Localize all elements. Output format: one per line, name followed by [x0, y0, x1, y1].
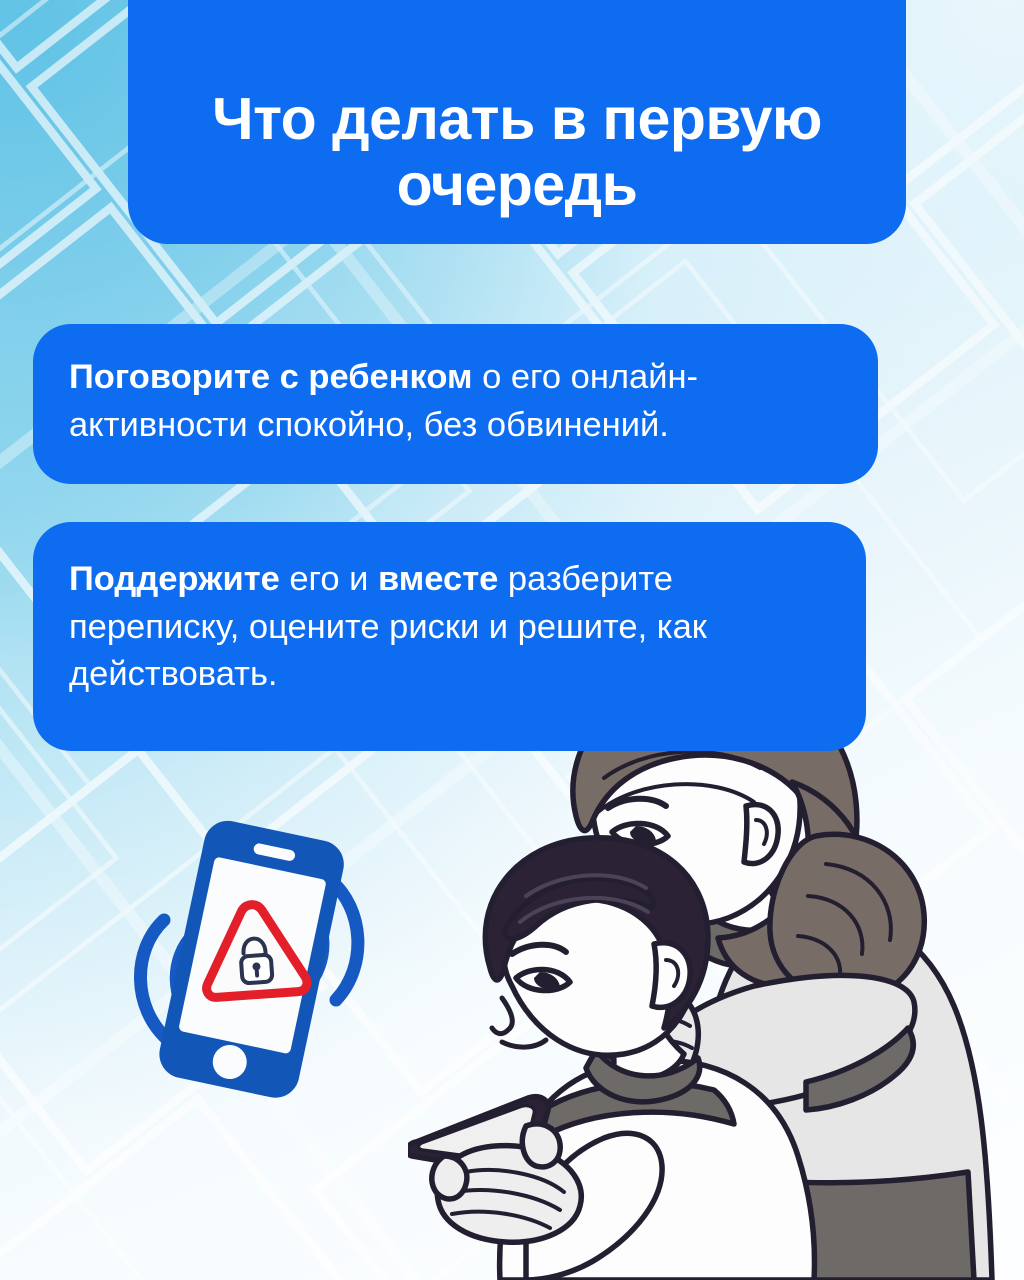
tip-card-2-bold-mid: вместе [378, 560, 498, 598]
tip-card-2-bold-lead: Поддержите [69, 560, 280, 598]
tip-card-1-bold-lead: Поговорите с ребенком [69, 358, 473, 396]
title-card: Что делать в первуюочередь [128, 0, 906, 244]
phone-alert-illustration [118, 812, 390, 1102]
title-line-1: Что делать в первую [212, 86, 822, 152]
tip-card-1-text: Поговорите с ребенком о его онлайн-актив… [69, 354, 842, 449]
page-title: Что делать в первуюочередь [212, 86, 822, 218]
tip-card-1: Поговорите с ребенком о его онлайн-актив… [33, 324, 878, 484]
tip-card-2: Поддержите его и вместе разберите перепи… [33, 522, 866, 751]
title-line-2: очередь [397, 152, 638, 218]
mother-and-son-illustration [408, 686, 1024, 1280]
infographic-poster: Что делать в первуюочередь Поговорите с … [0, 0, 1024, 1280]
tip-card-2-mid-1: его и [280, 560, 378, 598]
tip-card-2-text: Поддержите его и вместе разберите перепи… [69, 556, 830, 699]
